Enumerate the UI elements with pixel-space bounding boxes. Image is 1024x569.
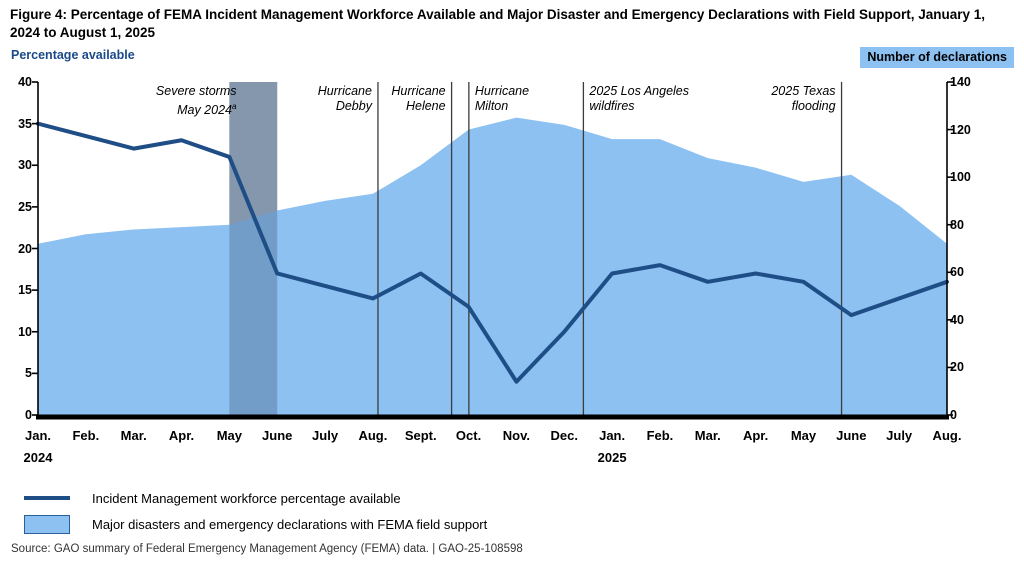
source-note: Source: GAO summary of Federal Emergency… [11,543,523,555]
left-axis-title: Percentage available [11,48,135,62]
x-axis-tick-label: July [886,428,912,443]
y-axis-left-tick-label: 10 [4,325,32,339]
legend-item-line: Incident Management workforce percentage… [24,485,824,511]
declarations-area-series [38,82,947,415]
legend-item-label: Incident Management workforce percentage… [92,491,401,506]
y-axis-left-tick-label: 0 [4,408,32,422]
x-axis-tick-label: Sept. [405,428,437,443]
x-axis-tick-label: Mar. [121,428,147,443]
x-axis-tick-label: Aug. [933,428,962,443]
x-axis-tick-label: Nov. [503,428,530,443]
y-axis-left-tick-label: 5 [4,366,32,380]
x-axis-year-label: 2024 [24,450,53,465]
chart-plot-area [0,70,1024,425]
legend-box-swatch-icon [24,515,70,534]
x-axis-tick-label: Feb. [72,428,99,443]
x-axis-tick-label: May [791,428,816,443]
y-axis-left-tick-label: 15 [4,283,32,297]
chart-legend: Incident Management workforce percentage… [24,485,824,537]
x-axis-year-label: 2025 [598,450,627,465]
legend-item-label: Major disasters and emergency declaratio… [92,517,487,532]
y-axis-right-tick-label: 100 [950,170,990,184]
y-axis-right-tick-label: 120 [950,123,990,137]
x-axis-tick-label: July [312,428,338,443]
severe-storms-highlight-band-overlay [229,82,277,415]
y-axis-right-tick-label: 20 [950,360,990,374]
x-axis-tick-label: Jan. [25,428,51,443]
x-axis-tick-label: June [262,428,292,443]
x-axis-tick-label: June [836,428,866,443]
y-axis-right-tick-label: 140 [950,75,990,89]
legend-line-swatch-icon [24,496,70,500]
page-title: Figure 4: Percentage of FEMA Incident Ma… [10,6,1016,42]
y-axis-left-tick-label: 40 [4,75,32,89]
x-axis-tick-label: Dec. [551,428,578,443]
right-axis-title: Number of declarations [860,47,1014,68]
x-axis-tick-label: Mar. [695,428,721,443]
y-axis-right-tick-label: 60 [950,265,990,279]
y-axis-right-tick-label: 40 [950,313,990,327]
y-axis-left-tick-label: 30 [4,158,32,172]
y-axis-left-tick-label: 20 [4,242,32,256]
y-axis-right-tick-label: 80 [950,218,990,232]
declarations-area [38,118,947,415]
y-axis-right-tick-label: 0 [950,408,990,422]
legend-item-area: Major disasters and emergency declaratio… [24,511,824,537]
x-axis-tick-label: Feb. [647,428,674,443]
x-axis-tick-label: Apr. [169,428,194,443]
event-annotation-label: HurricaneHelene [272,84,446,114]
event-annotation-label: 2025 Texasflooding [662,84,836,114]
chart-svg [0,70,1024,425]
x-axis-tick-label: Oct. [456,428,481,443]
y-axis-left-tick-label: 35 [4,117,32,131]
y-axis-left-tick-label: 25 [4,200,32,214]
x-axis-tick-label: May [217,428,242,443]
x-axis-tick-label: Apr. [743,428,768,443]
x-axis-tick-label: Jan. [599,428,625,443]
x-axis-tick-label: Aug. [358,428,387,443]
